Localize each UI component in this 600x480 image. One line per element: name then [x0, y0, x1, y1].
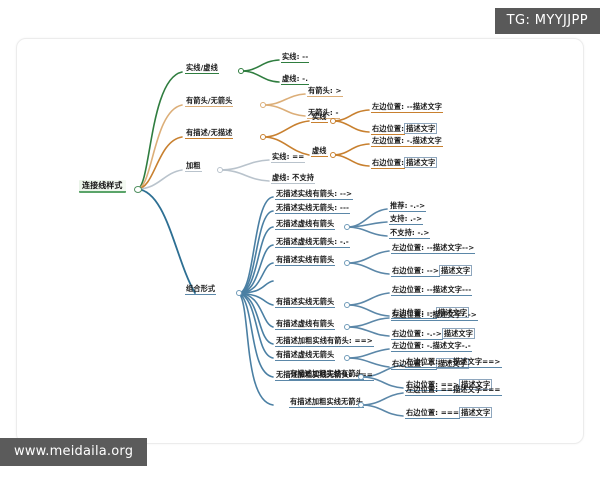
leaf-dashed-line-label: 虚线: -.	[281, 75, 309, 85]
combo-item-2[interactable]: 无描述虚线有箭头	[275, 220, 335, 230]
combo-4-left-label: 左边位置: --描述文字-->	[391, 244, 475, 254]
combo-item-11[interactable]: 有描述加粗实线无箭头	[289, 398, 364, 408]
branch-bold-label: 加粗	[185, 162, 202, 172]
branch-bold[interactable]: 加粗	[185, 162, 202, 172]
bold-dashed[interactable]: 虚线: 不支持	[271, 174, 315, 184]
described-solid-left[interactable]: 左边位置: --描述文字	[371, 103, 443, 113]
combo-11-right[interactable]: 右边位置: ===描述文字	[405, 409, 491, 419]
branch-described-label: 有描述/无描述	[185, 129, 233, 139]
branch-combination[interactable]: 组合形式	[185, 285, 216, 295]
bold-dashed-label: 虚线: 不支持	[271, 174, 315, 184]
described-solid-right-label: 右边位置:	[371, 125, 405, 135]
combo-2-unsupported[interactable]: 不支持: -.>	[389, 229, 430, 239]
branch-described-dot[interactable]	[260, 134, 266, 140]
telegram-tag-badge: TG: MYYJJPP	[495, 8, 600, 34]
described-solid[interactable]: 实线	[311, 113, 328, 123]
combo-item-11-dot[interactable]	[358, 402, 364, 408]
combo-item-5-dot[interactable]	[344, 302, 350, 308]
combo-item-7-label: 有描述虚线无箭头	[275, 351, 335, 361]
leaf-with-arrow[interactable]: 有箭头: >	[307, 87, 343, 97]
branch-arrow[interactable]: 有箭头/无箭头	[185, 97, 233, 107]
combo-4-right-label: 右边位置: -->	[391, 267, 440, 277]
described-dashed-left[interactable]: 左边位置: -.描述文字	[371, 137, 443, 147]
combo-item-1-label: 无描述实线无箭头: ---	[275, 204, 350, 214]
combo-item-6-label: 有描述虚线有箭头	[275, 320, 335, 330]
combo-item-4[interactable]: 有描述实线有箭头	[275, 256, 335, 266]
branch-described[interactable]: 有描述/无描述	[185, 129, 233, 139]
described-dashed-right-boxed: 描述文字	[405, 158, 436, 167]
combo-item-0[interactable]: 无描述实线有箭头: -->	[275, 190, 353, 200]
described-solid-dot[interactable]	[330, 118, 336, 124]
branch-combination-label: 组合形式	[185, 285, 216, 295]
combo-item-10-label: 有描述加粗实线有箭头	[289, 370, 364, 380]
combo-item-4-dot[interactable]	[344, 260, 350, 266]
branch-combination-dot[interactable]	[236, 290, 242, 296]
combo-item-8-label: 无描述加粗实线有箭头: ==>	[275, 337, 374, 347]
combo-item-1[interactable]: 无描述实线无箭头: ---	[275, 204, 350, 214]
combo-item-6-dot[interactable]	[344, 324, 350, 330]
described-solid-label: 实线	[311, 113, 328, 123]
combo-5-left[interactable]: 左边位置: --描述文字---	[391, 286, 472, 296]
combo-item-3-label: 无描述虚线无箭头: -.-	[275, 238, 350, 248]
branch-solid-dashed-dot[interactable]	[238, 68, 244, 74]
mindmap-canvas: 连接线样式 实线/虚线 实线: -- 虚线: -. 有箭头/无箭头 有箭头: >…	[16, 38, 584, 444]
combo-6-left[interactable]: 左边位置: -.描述文字-.->	[391, 311, 478, 321]
combo-2-recommend[interactable]: 推荐: -.->	[389, 202, 426, 212]
combo-6-left-label: 左边位置: -.描述文字-.->	[391, 311, 478, 321]
combo-item-5[interactable]: 有描述实线无箭头	[275, 298, 335, 308]
described-dashed-right[interactable]: 右边位置: 描述文字	[371, 159, 436, 169]
root-node-label: 连接线样式	[79, 180, 126, 193]
combo-item-3[interactable]: 无描述虚线无箭头: -.-	[275, 238, 350, 248]
described-dashed-left-label: 左边位置: -.描述文字	[371, 137, 443, 147]
described-dashed-right-label: 右边位置:	[371, 159, 405, 169]
described-solid-right-boxed: 描述文字	[405, 124, 436, 133]
combo-10-left[interactable]: 左边位置: ==描述文字==>	[405, 358, 502, 368]
leaf-dashed-line[interactable]: 虚线: -.	[281, 75, 309, 85]
combo-item-0-label: 无描述实线有箭头: -->	[275, 190, 353, 200]
branch-arrow-label: 有箭头/无箭头	[185, 97, 233, 107]
site-watermark: www.meidaila.org	[0, 438, 147, 466]
combo-4-left[interactable]: 左边位置: --描述文字-->	[391, 244, 475, 254]
combo-11-right-label: 右边位置: ===	[405, 409, 460, 419]
combo-11-left-label: 左边位置: ==描述文字===	[405, 386, 502, 396]
combo-item-6[interactable]: 有描述虚线有箭头	[275, 320, 335, 330]
bold-solid[interactable]: 实线: ==	[271, 153, 305, 163]
described-dashed-dot[interactable]	[330, 152, 336, 158]
combo-5-left-label: 左边位置: --描述文字---	[391, 286, 472, 296]
combo-6-right[interactable]: 右边位置: -.->描述文字	[391, 330, 474, 340]
described-solid-right[interactable]: 右边位置: 描述文字	[371, 125, 436, 135]
branch-bold-dot[interactable]	[217, 167, 223, 173]
described-dashed-label: 虚线	[311, 147, 328, 157]
branch-solid-dashed[interactable]: 实线/虚线	[185, 64, 219, 74]
combo-6-right-label: 右边位置: -.->	[391, 330, 443, 340]
combo-4-right-boxed: 描述文字	[440, 266, 471, 275]
combo-item-4-label: 有描述实线有箭头	[275, 256, 335, 266]
bold-solid-label: 实线: ==	[271, 153, 305, 163]
combo-10-left-label: 左边位置: ==描述文字==>	[405, 358, 502, 368]
combo-4-right[interactable]: 右边位置: -->描述文字	[391, 267, 471, 277]
combo-6-right-boxed: 描述文字	[443, 329, 474, 338]
combo-item-8[interactable]: 无描述加粗实线有箭头: ==>	[275, 337, 374, 347]
combo-11-left[interactable]: 左边位置: ==描述文字===	[405, 386, 502, 396]
leaf-solid-line[interactable]: 实线: --	[281, 53, 309, 63]
described-solid-left-label: 左边位置: --描述文字	[371, 103, 443, 113]
combo-item-10[interactable]: 有描述加粗实线有箭头	[289, 370, 364, 380]
combo-2-support[interactable]: 支持: .->	[389, 215, 423, 225]
leaf-solid-line-label: 实线: --	[281, 53, 309, 63]
combo-item-7-dot[interactable]	[344, 355, 350, 361]
root-node[interactable]: 连接线样式	[79, 182, 126, 190]
combo-item-2-dot[interactable]	[344, 224, 350, 230]
described-dashed[interactable]: 虚线	[311, 147, 328, 157]
combo-2-support-label: 支持: .->	[389, 215, 423, 225]
branch-solid-dashed-label: 实线/虚线	[185, 64, 219, 74]
combo-2-recommend-label: 推荐: -.->	[389, 202, 426, 212]
combo-11-right-boxed: 描述文字	[460, 408, 491, 417]
branch-arrow-dot[interactable]	[260, 102, 266, 108]
combo-2-unsupported-label: 不支持: -.>	[389, 229, 430, 239]
combo-item-11-label: 有描述加粗实线无箭头	[289, 398, 364, 408]
combo-item-10-dot[interactable]	[358, 374, 364, 380]
combo-item-5-label: 有描述实线无箭头	[275, 298, 335, 308]
root-node-dot[interactable]	[134, 186, 142, 193]
combo-7-left[interactable]: 左边位置: -.描述文字-.-	[391, 342, 472, 352]
leaf-with-arrow-label: 有箭头: >	[307, 87, 343, 97]
combo-7-left-label: 左边位置: -.描述文字-.-	[391, 342, 472, 352]
combo-item-2-label: 无描述虚线有箭头	[275, 220, 335, 230]
combo-item-7[interactable]: 有描述虚线无箭头	[275, 351, 335, 361]
